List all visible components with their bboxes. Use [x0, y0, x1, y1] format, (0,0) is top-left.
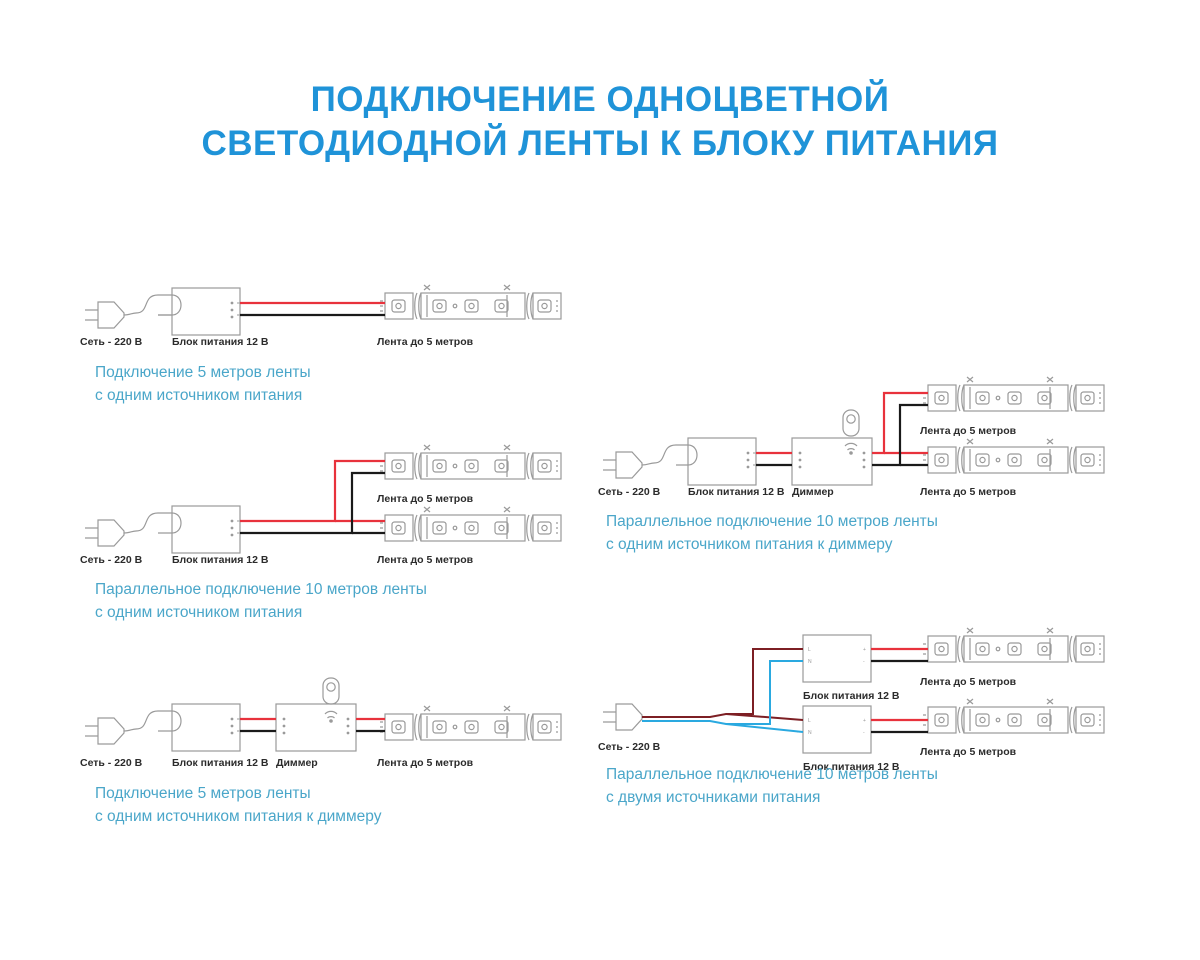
diagram-2: Лента до 5 метров Сеть - 220 В Блок пита… — [80, 440, 580, 570]
diagram-3-caption-line-1: Подключение 5 метров ленты — [95, 782, 381, 805]
diagram-1-figure — [80, 282, 580, 352]
label-psu-2: Блок питания 12 В — [172, 550, 268, 568]
led-strip-1 — [380, 285, 561, 319]
diagram-2-caption-line-1: Параллельное подключение 10 метров ленты — [95, 578, 427, 601]
label-psu-3: Блок питания 12 В — [172, 753, 268, 771]
psu-lower-terminal-l: L — [808, 718, 811, 724]
diagram-2-figure — [80, 440, 580, 570]
diagram-5: L N + - L N + - Лента до 5 метров Блок п… — [598, 618, 1108, 763]
power-supply-box — [172, 288, 240, 335]
page-title: ПОДКЛЮЧЕНИЕ ОДНОЦВЕТНОЙ СВЕТОДИОДНОЙ ЛЕН… — [0, 78, 1200, 166]
dimmer-box — [792, 438, 872, 485]
diagram-1: Сеть - 220 В Блок питания 12 В Лента до … — [80, 282, 580, 352]
diagram-3-caption: Подключение 5 метров ленты с одним источ… — [95, 782, 381, 828]
power-supply-box — [688, 438, 756, 485]
label-strip-upper-2: Лента до 5 метров — [377, 489, 473, 507]
diagram-4-caption-line-2: с одним источником питания к диммеру — [606, 533, 938, 556]
psu-lower-terminal-plus: + — [863, 718, 866, 724]
label-mains-4: Сеть - 220 В — [598, 482, 660, 500]
remote-control-icon — [323, 678, 339, 722]
led-strip-lower — [923, 699, 1104, 733]
wire-positive-branch — [240, 461, 385, 521]
label-strip-lower-5: Лента до 5 метров — [920, 742, 1016, 760]
led-strip-3 — [380, 706, 561, 740]
diagram-1-caption-line-2: с одним источником питания — [95, 384, 311, 407]
diagram-2-caption-line-2: с одним источником питания — [95, 601, 427, 624]
cut-mark — [967, 699, 973, 731]
label-mains-2: Сеть - 220 В — [80, 550, 142, 568]
cut-mark — [424, 507, 430, 539]
label-strip-upper-5: Лента до 5 метров — [920, 672, 1016, 690]
mains-cable — [136, 711, 181, 731]
wire-negative-branch — [240, 473, 385, 533]
cut-mark — [967, 628, 973, 660]
mains-live-main — [726, 714, 803, 720]
mains-live-branch — [642, 649, 803, 717]
diagram-5-caption-line-1: Параллельное подключение 10 метров ленты — [606, 763, 938, 786]
label-psu-1: Блок питания 12 В — [172, 332, 268, 350]
psu-lower-terminal-minus: - — [863, 730, 865, 736]
cut-mark — [424, 706, 430, 738]
power-supply-box-lower — [803, 706, 871, 753]
psu-lower-input-terminals — [797, 720, 803, 732]
diagram-4: Лента до 5 метров Сеть - 220 В Блок пита… — [598, 372, 1108, 502]
psu-upper-output-terminals — [871, 649, 877, 661]
psu-lower-terminal-n: N — [808, 730, 812, 736]
cut-mark — [967, 377, 973, 409]
cut-mark — [424, 445, 430, 477]
label-strip-3: Лента до 5 метров — [377, 753, 473, 771]
label-mains-5: Сеть - 220 В — [598, 737, 660, 755]
psu-upper-terminal-n: N — [808, 659, 812, 665]
psu-upper-terminal-l: L — [808, 647, 811, 653]
mains-plug-icon — [85, 302, 136, 328]
dimmer-box — [276, 704, 356, 751]
label-dimmer-3: Диммер — [276, 753, 318, 771]
label-psu-4: Блок питания 12 В — [688, 482, 784, 500]
page-title-line-1: ПОДКЛЮЧЕНИЕ ОДНОЦВЕТНОЙ — [0, 78, 1200, 122]
label-strip-upper-4: Лента до 5 метров — [920, 421, 1016, 439]
remote-control-icon — [843, 410, 859, 454]
label-psu-upper-5: Блок питания 12 В — [803, 686, 899, 704]
label-strip-1: Лента до 5 метров — [377, 332, 473, 350]
diagram-1-caption: Подключение 5 метров ленты с одним источ… — [95, 361, 311, 407]
diagram-3-figure — [80, 672, 580, 772]
diagram-4-figure — [598, 372, 1108, 502]
diagram-4-caption-line-1: Параллельное подключение 10 метров ленты — [606, 510, 938, 533]
power-supply-box — [172, 704, 240, 751]
power-supply-box-upper — [803, 635, 871, 682]
label-dimmer-4: Диммер — [792, 482, 834, 500]
psu-upper-terminal-minus: - — [863, 659, 865, 665]
mains-plug-icon — [603, 452, 654, 478]
page-title-line-2: СВЕТОДИОДНОЙ ЛЕНТЫ К БЛОКУ ПИТАНИЯ — [0, 122, 1200, 166]
led-strip-upper — [380, 445, 561, 479]
cut-mark — [967, 439, 973, 471]
diagram-3-caption-line-2: с одним источником питания к диммеру — [95, 805, 381, 828]
mains-plug-icon — [603, 704, 642, 730]
led-strip-lower — [923, 439, 1104, 473]
diagram-5-caption-line-2: с двумя источниками питания — [606, 786, 938, 809]
psu-lower-output-terminals — [871, 720, 877, 732]
led-strip-upper — [923, 628, 1104, 662]
diagram-2-caption: Параллельное подключение 10 метров ленты… — [95, 578, 427, 624]
label-mains-3: Сеть - 220 В — [80, 753, 142, 771]
mains-plug-icon — [85, 718, 136, 744]
power-supply-box — [172, 506, 240, 553]
diagram-4-caption: Параллельное подключение 10 метров ленты… — [606, 510, 938, 556]
psu-upper-terminal-plus: + — [863, 647, 866, 653]
label-mains-1: Сеть - 220 В — [80, 332, 142, 350]
cut-mark — [424, 285, 430, 317]
led-strip-upper — [923, 377, 1104, 411]
mains-cable — [654, 445, 697, 465]
mains-plug-icon — [85, 520, 136, 546]
mains-neutral-main — [726, 724, 803, 732]
diagram-5-caption: Параллельное подключение 10 метров ленты… — [606, 763, 938, 809]
diagram-3: Сеть - 220 В Блок питания 12 В Диммер Ле… — [80, 672, 580, 772]
led-strip-lower — [380, 507, 561, 541]
label-strip-lower-2: Лента до 5 метров — [377, 550, 473, 568]
label-strip-lower-4: Лента до 5 метров — [920, 482, 1016, 500]
diagram-1-caption-line-1: Подключение 5 метров ленты — [95, 361, 311, 384]
psu-upper-input-terminals — [797, 649, 803, 661]
mains-cable — [136, 295, 181, 315]
mains-cable — [136, 513, 181, 533]
